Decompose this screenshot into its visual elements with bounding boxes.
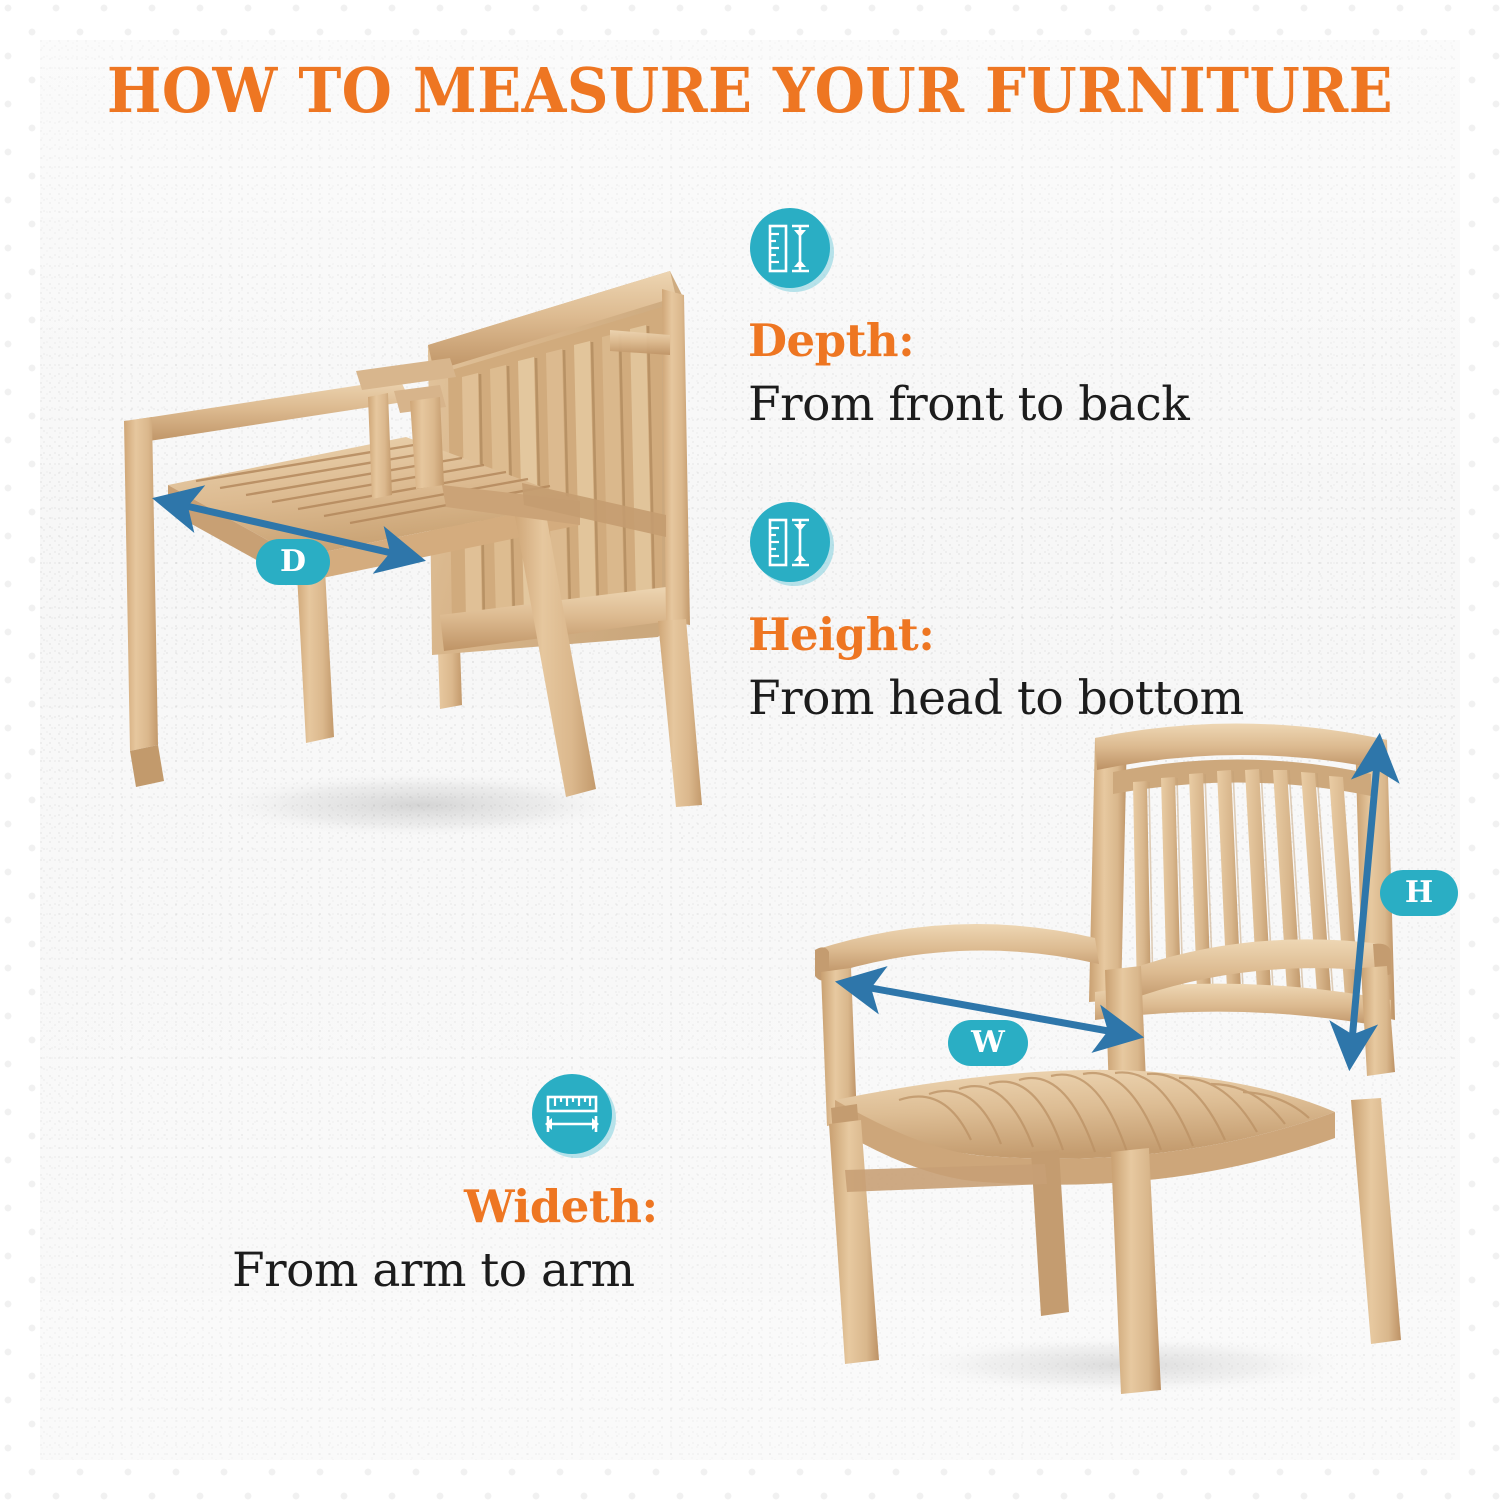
description-height: From head to bottom <box>748 673 1388 725</box>
info-block-depth: Depth: From front to back <box>748 206 1348 431</box>
vertical-ruler-icon <box>748 206 836 294</box>
term-width: Wideth: <box>464 1184 832 1229</box>
description-width: From arm to arm <box>232 1245 832 1297</box>
term-depth: Depth: <box>748 318 1348 363</box>
badge-depth: D <box>256 539 330 585</box>
vertical-ruler-icon <box>748 500 836 588</box>
badge-height: H <box>1380 870 1458 916</box>
horizontal-ruler-icon <box>530 1072 618 1160</box>
description-depth: From front to back <box>748 379 1348 431</box>
height-arrow <box>1350 741 1379 1063</box>
info-block-width: Wideth: From arm to arm <box>232 1072 832 1297</box>
info-block-height: Height: From head to bottom <box>748 500 1388 725</box>
term-height: Height: <box>748 612 1388 657</box>
badge-width: W <box>948 1020 1028 1066</box>
page-title: HOW TO MEASURE YOUR FURNITURE <box>90 58 1411 123</box>
infographic-canvas: D W H HOW TO MEASURE YOUR FURNITURE <box>0 0 1500 1500</box>
